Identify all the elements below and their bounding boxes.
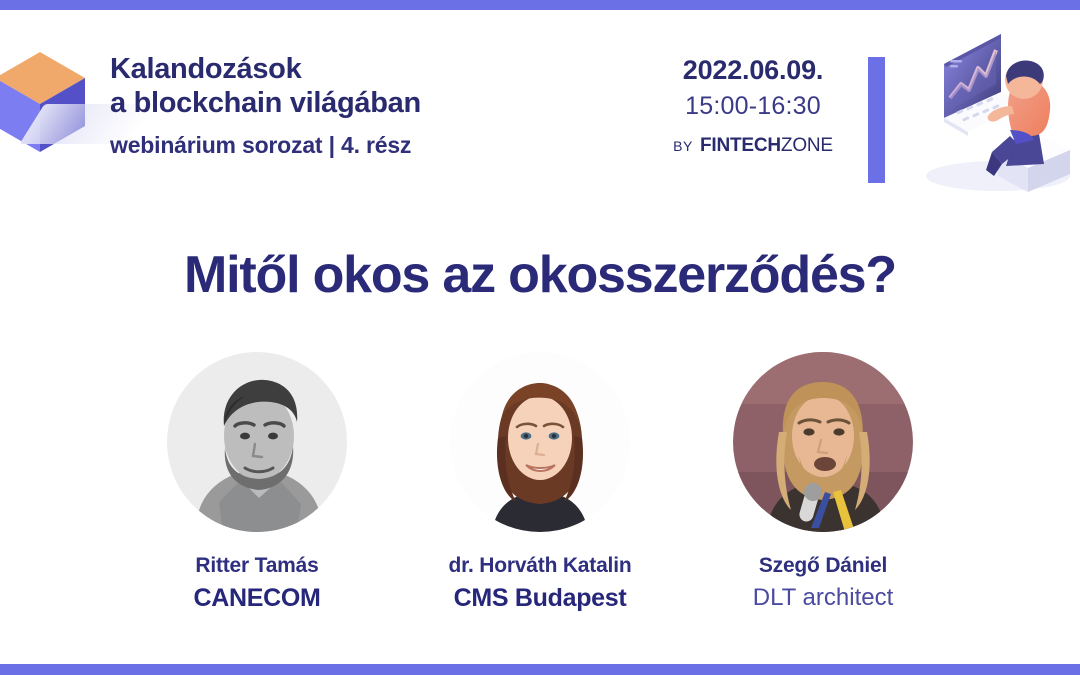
webinar-poster: Kalandozások a blockchain világában webi…: [0, 0, 1080, 675]
speaker-name: Szegő Dániel: [698, 554, 948, 578]
speaker-name: dr. Horváth Katalin: [415, 554, 665, 578]
title-line-1: Kalandozások: [110, 52, 630, 86]
brand-zone-label: ZONE: [781, 135, 833, 156]
brand-fintech-label: FINTECH: [700, 135, 781, 156]
speakers-list: Ritter Tamás CANECOM: [132, 352, 948, 613]
series-subtitle: webinárium sorozat | 4. rész: [110, 130, 630, 160]
speaker-photo-man-with-microphone: [733, 352, 913, 532]
event-date: 2022.06.09.: [648, 54, 858, 86]
speaker-org: DLT architect: [698, 584, 948, 612]
bottom-accent-bar: [0, 664, 1080, 675]
speaker-org: CMS Budapest: [415, 584, 665, 613]
brand-by-label: BY: [673, 138, 693, 154]
speaker-name: Ritter Tamás: [132, 554, 382, 578]
person-at-laptop-illustration: [906, 24, 1078, 196]
top-accent-bar: [0, 0, 1080, 10]
speaker-photo-woman-bob-hair: [450, 352, 630, 532]
brand-lockup: BYFINTECHZONE: [648, 136, 858, 157]
speaker-card: Szegő Dániel DLT architect: [698, 352, 948, 613]
event-date-block: 2022.06.09. 15:00-16:30 BYFINTECHZONE: [648, 54, 858, 157]
page-title: Mitől okos az okosszerződés?: [0, 245, 1080, 305]
title-line-2: a blockchain világában: [110, 86, 630, 120]
speaker-card: dr. Horváth Katalin CMS Budapest: [415, 352, 665, 613]
speaker-org: CANECOM: [132, 584, 382, 613]
event-time: 15:00-16:30: [648, 90, 858, 122]
vertical-accent-bar: [868, 57, 885, 183]
speaker-photo-bw-bearded-man: [167, 352, 347, 532]
speaker-card: Ritter Tamás CANECOM: [132, 352, 382, 613]
header-title-block: Kalandozások a blockchain világában webi…: [110, 52, 630, 160]
